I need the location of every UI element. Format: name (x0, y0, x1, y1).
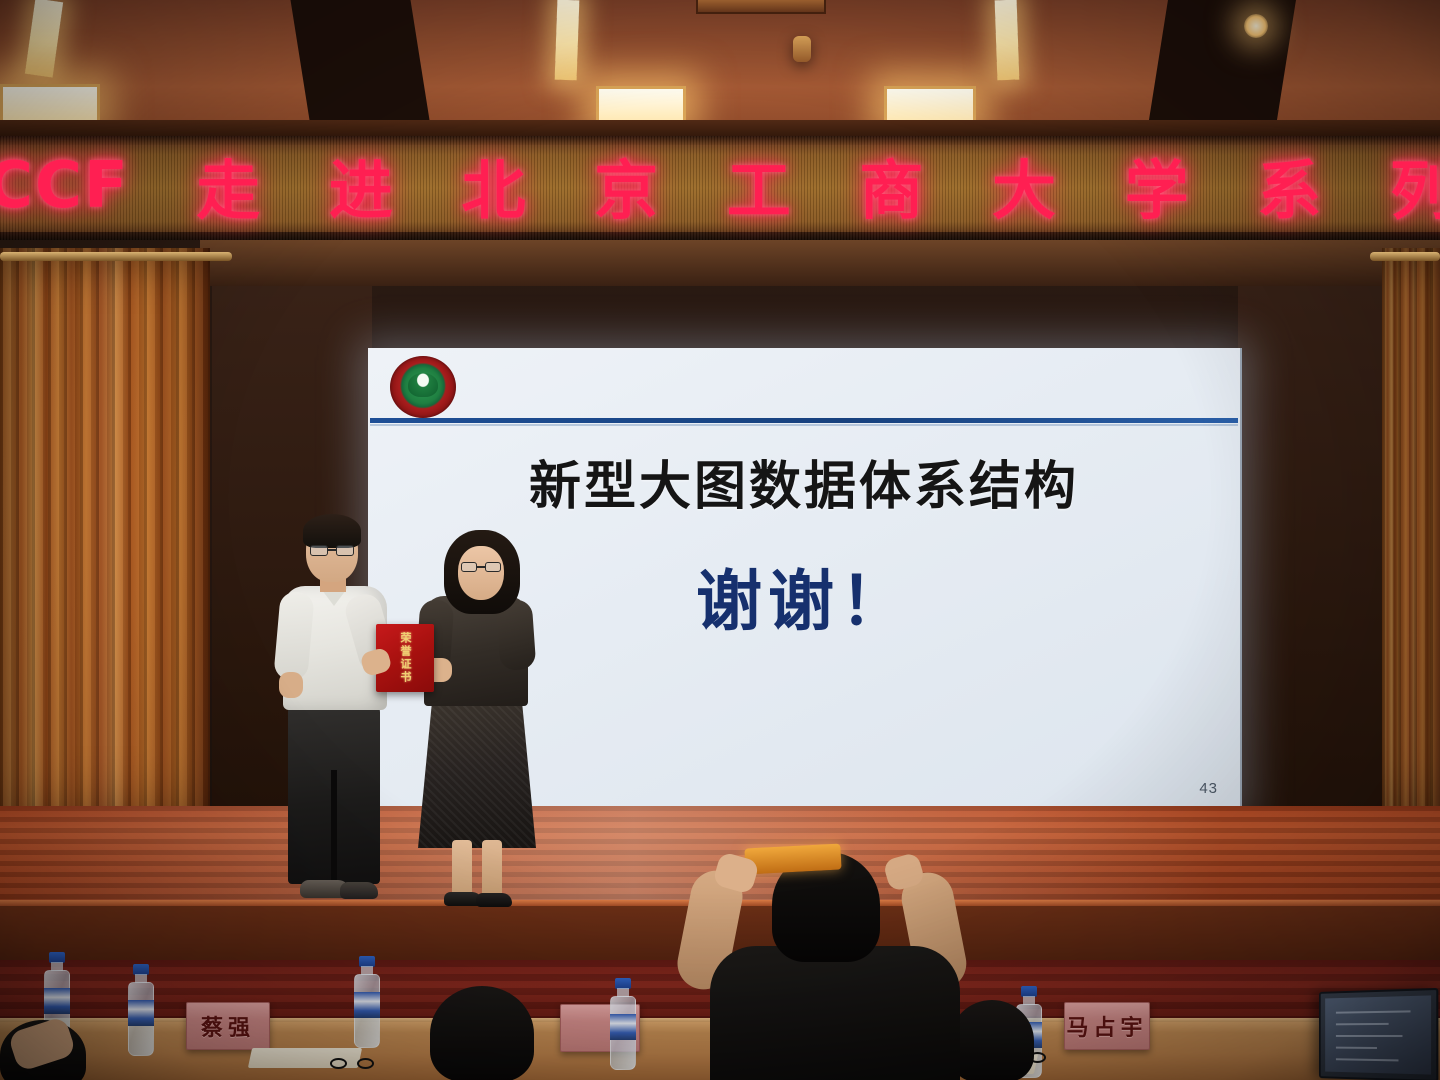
ceiling (0, 0, 1440, 140)
ceiling-strip-light-3 (995, 0, 1020, 80)
name-placard-mazhanyu: 马占宇 (1064, 1002, 1150, 1050)
led-banner: CCF 走 进 北 京 工 商 大 学 系 列 (0, 136, 1440, 240)
smartphone-icon (744, 844, 841, 875)
banner-seg-0: CCF (0, 149, 130, 223)
recipient-glasses-icon (461, 562, 501, 572)
presenter-glasses-icon (310, 545, 354, 556)
stage-curtain-left (0, 248, 210, 852)
banner-seg-8: 学 (1125, 140, 1191, 232)
ceiling-recess-left (290, 0, 429, 120)
placard-label-0: 蔡强 (201, 1010, 255, 1042)
placard-label-2: 马占宇 (1066, 1010, 1147, 1042)
presenter-hair (303, 514, 361, 548)
photographer-torso (710, 946, 960, 1080)
university-emblem-icon (390, 356, 456, 418)
slide-divider-rule (370, 418, 1238, 423)
banner-seg-5: 工 (727, 140, 793, 232)
banner-seg-2: 进 (329, 140, 395, 232)
banner-seg-10: 列 (1390, 140, 1440, 232)
recipient-shoe-right (476, 893, 512, 907)
name-placard-caiqiang: 蔡强 (186, 1002, 270, 1050)
led-banner-text: CCF 走 进 北 京 工 商 大 学 系 列 (0, 146, 1440, 226)
presenter-trouser-gap (331, 770, 337, 882)
banner-seg-4: 京 (594, 140, 660, 232)
ceiling-recess-right (1148, 0, 1296, 126)
banner-seg-9: 系 (1257, 140, 1323, 232)
curtain-rod-right (1370, 252, 1440, 261)
banner-seg-1: 走 (196, 140, 262, 232)
banner-seg-3: 北 (462, 140, 528, 232)
audience-head-3 (950, 1000, 1034, 1080)
recipient-leg-right (482, 840, 502, 898)
curtain-rod-left (0, 252, 232, 261)
presenter-hand-left (279, 672, 303, 698)
ceiling-panel-light-1 (0, 84, 100, 124)
stage-curtain-right (1382, 248, 1440, 840)
wall-header-beam (200, 240, 1440, 286)
banner-seg-7: 大 (992, 140, 1058, 232)
slide-divider-rule-shadow (370, 424, 1238, 426)
presenter-shoe-right (340, 882, 378, 899)
slide-title: 新型大图数据体系结构 (368, 444, 1240, 519)
recipient-leg-left (452, 840, 472, 898)
ceiling-strip-light-2 (555, 0, 580, 80)
banner-seg-6: 商 (859, 140, 925, 232)
auditorium-photo-scene: CCF 走 进 北 京 工 商 大 学 系 列 新型大图数据体系结构 谢谢！ (0, 0, 1440, 1080)
ceiling-vent (696, 0, 826, 14)
ceiling-panel-light-3 (884, 86, 976, 124)
certificate-label: 荣誉证书 (397, 632, 413, 684)
banner-bottom-edge (0, 232, 1440, 240)
laptop-screen[interactable] (1319, 988, 1438, 1080)
eyeglasses-icon (330, 1058, 374, 1070)
ceiling-panel-light-2 (596, 86, 686, 124)
wall-panel-right (1238, 248, 1388, 818)
laptop-display (1325, 995, 1431, 1074)
ceiling-speaker (793, 36, 811, 62)
audience-head-2 (430, 986, 534, 1080)
ceiling-spotlight (1244, 14, 1268, 38)
recipient-skirt (418, 700, 536, 848)
slide-page-number: 43 (1199, 780, 1218, 797)
recipient-face (458, 546, 504, 600)
ceiling-strip-light-1 (25, 0, 63, 78)
